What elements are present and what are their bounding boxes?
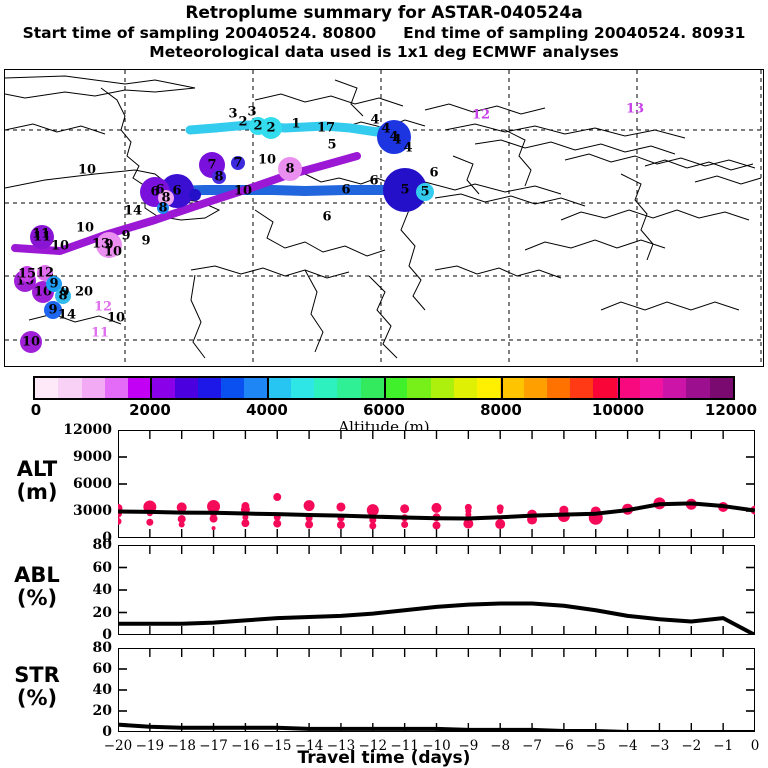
map-coastline bbox=[191, 275, 205, 358]
map-marker-label: 5 bbox=[420, 186, 429, 199]
alt-scatter-point bbox=[212, 526, 216, 530]
colorbar-swatch bbox=[151, 378, 174, 398]
panel-y-tick-label: 80 bbox=[60, 640, 112, 656]
alt-scatter-point bbox=[273, 493, 281, 501]
colorbar-tick-label: 10000 bbox=[592, 401, 644, 419]
map-coastline bbox=[5, 76, 195, 98]
colorbar-swatch bbox=[35, 378, 58, 398]
colorbar-swatch bbox=[593, 378, 616, 398]
colorbar-swatch bbox=[454, 378, 477, 398]
map-day-label: 13 bbox=[92, 238, 110, 251]
colorbar-tick-label: 2000 bbox=[129, 401, 171, 419]
panel-y-tick-label: 80 bbox=[60, 537, 112, 553]
colorbar-swatch bbox=[477, 378, 500, 398]
alt-scatter-point bbox=[305, 521, 313, 529]
colorbar-separator bbox=[384, 376, 386, 400]
map-coastline bbox=[695, 176, 761, 184]
colorbar-swatch bbox=[314, 378, 337, 398]
map-day-label: 10 bbox=[107, 312, 125, 325]
map-day-label: 6 bbox=[341, 184, 350, 197]
retroplume-figure: Retroplume summary for ASTAR-040524a Sta… bbox=[0, 0, 768, 768]
panel-plot-abl bbox=[118, 545, 755, 635]
colorbar-swatch bbox=[570, 378, 593, 398]
alt-scatter-point bbox=[495, 519, 505, 529]
colorbar-swatch bbox=[58, 378, 81, 398]
colorbar-swatch bbox=[663, 378, 686, 398]
alt-scatter-point bbox=[401, 521, 408, 528]
map-day-label: 9 bbox=[141, 235, 150, 248]
colorbar-swatch bbox=[198, 378, 221, 398]
x-axis-title: Travel time (days) bbox=[0, 748, 768, 768]
map-plume-marker[interactable] bbox=[189, 189, 201, 201]
colorbar-swatch bbox=[105, 378, 128, 398]
panel-y-tick-label: 12000 bbox=[60, 422, 112, 438]
colorbar-tick-label: 6000 bbox=[363, 401, 405, 419]
alt-scatter-point bbox=[273, 520, 281, 528]
alt-scatter-point bbox=[304, 500, 315, 511]
map-day-label: 4 bbox=[403, 142, 412, 155]
panel-y-tick-label: 20 bbox=[60, 703, 112, 719]
panel-y-tick-label: 60 bbox=[60, 661, 112, 677]
colorbar-separator bbox=[150, 376, 152, 400]
colorbar-swatch bbox=[640, 378, 663, 398]
panel-y-tick-label: 9000 bbox=[60, 449, 112, 465]
map-coastline bbox=[369, 276, 397, 358]
panel-y-tick-label: 6000 bbox=[60, 476, 112, 492]
map-day-label: 13 bbox=[626, 103, 644, 116]
colorbar-tick-label: 0 bbox=[31, 401, 41, 419]
alt-scatter-point bbox=[433, 521, 441, 529]
alt-scatter-point bbox=[146, 519, 153, 526]
panel-y-tick-label: 3000 bbox=[60, 503, 112, 519]
map-day-label: 6 bbox=[155, 184, 164, 197]
map-marker-label: 2 bbox=[253, 120, 262, 133]
map-marker-label: 10 bbox=[22, 336, 40, 349]
sampling-time-line: Start time of sampling 20040524. 80800 E… bbox=[0, 24, 768, 43]
alt-scatter-point bbox=[179, 522, 185, 528]
alt-scatter-point bbox=[210, 515, 218, 523]
colorbar-swatch bbox=[524, 378, 547, 398]
map-marker-label: 2 bbox=[266, 122, 275, 135]
colorbar-swatch bbox=[291, 378, 314, 398]
map-day-label: 10 bbox=[78, 164, 96, 177]
map-trajectory-blue-plume bbox=[170, 190, 405, 191]
map-day-label: 11 bbox=[32, 228, 50, 241]
alt-scatter-point bbox=[118, 518, 122, 525]
map-day-label: 14 bbox=[58, 309, 76, 322]
map-day-label: 10 bbox=[234, 185, 252, 198]
map-day-label: 14 bbox=[124, 205, 142, 218]
map-day-label: 9 bbox=[60, 286, 69, 299]
colorbar-tick-label: 8000 bbox=[480, 401, 522, 419]
map-coastline bbox=[601, 302, 739, 310]
colorbar-swatch bbox=[500, 378, 523, 398]
colorbar-swatch bbox=[337, 378, 360, 398]
map-day-label: 10 bbox=[76, 222, 94, 235]
colorbar-swatch bbox=[128, 378, 151, 398]
map-coastline bbox=[645, 160, 753, 170]
map-day-label: 3 bbox=[247, 106, 256, 119]
panel-y-tick-label: 40 bbox=[60, 682, 112, 698]
colorbar-separator bbox=[267, 376, 269, 400]
map-coastline bbox=[101, 88, 145, 196]
colorbar-separator bbox=[618, 376, 620, 400]
map-day-label: 17 bbox=[317, 122, 335, 135]
map-day-label: 11 bbox=[91, 327, 109, 340]
map-day-label: 20 bbox=[75, 286, 93, 299]
colorbar-tick-label: 12000 bbox=[705, 401, 757, 419]
map-coastline bbox=[445, 124, 685, 138]
map-coastline bbox=[525, 240, 665, 250]
map-marker-label: 15 bbox=[18, 268, 36, 281]
panel-y-tick-label: 20 bbox=[60, 605, 112, 621]
map-coastline bbox=[305, 270, 323, 352]
alt-scatter-point bbox=[369, 522, 376, 529]
colorbar-separator bbox=[501, 376, 503, 400]
colorbar-swatch bbox=[384, 378, 407, 398]
figure-titles: Retroplume summary for ASTAR-040524a Sta… bbox=[0, 0, 768, 62]
map-day-label: 4 bbox=[370, 114, 379, 127]
map-day-label: 6 bbox=[429, 167, 438, 180]
map-day-label: 12 bbox=[472, 109, 490, 122]
map-day-label: 3 bbox=[228, 108, 237, 121]
colorbar-swatch bbox=[431, 378, 454, 398]
map-marker-label: 9 bbox=[48, 304, 57, 317]
alt-scatter-point bbox=[497, 508, 503, 514]
colorbar-swatch bbox=[361, 378, 384, 398]
panel-y-tick-label: 60 bbox=[60, 560, 112, 576]
map-marker-label: 8 bbox=[158, 202, 167, 215]
panel-plot-alt bbox=[118, 430, 755, 538]
colorbar-tick-label: 4000 bbox=[246, 401, 288, 419]
map-day-label: 5 bbox=[327, 139, 336, 152]
map-day-label: 9 bbox=[121, 230, 130, 243]
colorbar-swatch bbox=[547, 378, 570, 398]
map-coastline bbox=[475, 140, 675, 154]
map-day-label: 2 bbox=[238, 116, 247, 129]
map-day-label: 1 bbox=[291, 118, 300, 131]
colorbar-swatch bbox=[407, 378, 430, 398]
alt-scatter-point bbox=[367, 504, 379, 516]
altitude-colorbar[interactable]: 020004000600080001000012000 Altitude (m) bbox=[0, 374, 768, 428]
map-coastline bbox=[453, 156, 479, 194]
map-coastline bbox=[255, 210, 385, 256]
colorbar-swatch bbox=[617, 378, 640, 398]
panel-plot-str bbox=[118, 648, 755, 732]
map-coastline bbox=[5, 124, 105, 134]
alt-scatter-point bbox=[432, 503, 442, 513]
map-day-label: 4 bbox=[381, 123, 390, 136]
colorbar-swatch bbox=[82, 378, 105, 398]
alt-scatter-point bbox=[337, 521, 345, 529]
map-marker-label: 9 bbox=[49, 278, 58, 291]
map-marker-label: 8 bbox=[214, 171, 223, 184]
map-day-label: 6 bbox=[369, 175, 378, 188]
colorbar-swatch bbox=[175, 378, 198, 398]
map-coastline bbox=[435, 194, 585, 206]
colorbar-swatch bbox=[268, 378, 291, 398]
panel-y-tick-label: 40 bbox=[60, 582, 112, 598]
map-coastline bbox=[561, 210, 749, 220]
retroplume-map[interactable]: 5422667888985101010119151298733117544446… bbox=[4, 69, 764, 367]
colorbar-swatch bbox=[686, 378, 709, 398]
meteorological-data-line: Meteorological data used is 1x1 deg ECMW… bbox=[0, 43, 768, 62]
map-day-label: 4 bbox=[392, 134, 401, 147]
page-title: Retroplume summary for ASTAR-040524a bbox=[0, 0, 768, 24]
colorbar-swatch bbox=[710, 378, 733, 398]
alt-scatter-point bbox=[336, 502, 345, 511]
map-marker-label: 8 bbox=[285, 163, 294, 176]
colorbar-swatch bbox=[221, 378, 244, 398]
colorbar-swatch bbox=[244, 378, 267, 398]
map-day-label: 6 bbox=[322, 211, 331, 224]
alt-scatter-point bbox=[241, 519, 249, 527]
map-marker-label: 5 bbox=[400, 184, 409, 197]
map-day-label: 10 bbox=[51, 240, 69, 253]
alt-scatter-point bbox=[400, 504, 409, 513]
map-coastline bbox=[335, 80, 363, 116]
map-day-label: 10 bbox=[258, 154, 276, 167]
map-marker-label: 7 bbox=[233, 157, 242, 170]
